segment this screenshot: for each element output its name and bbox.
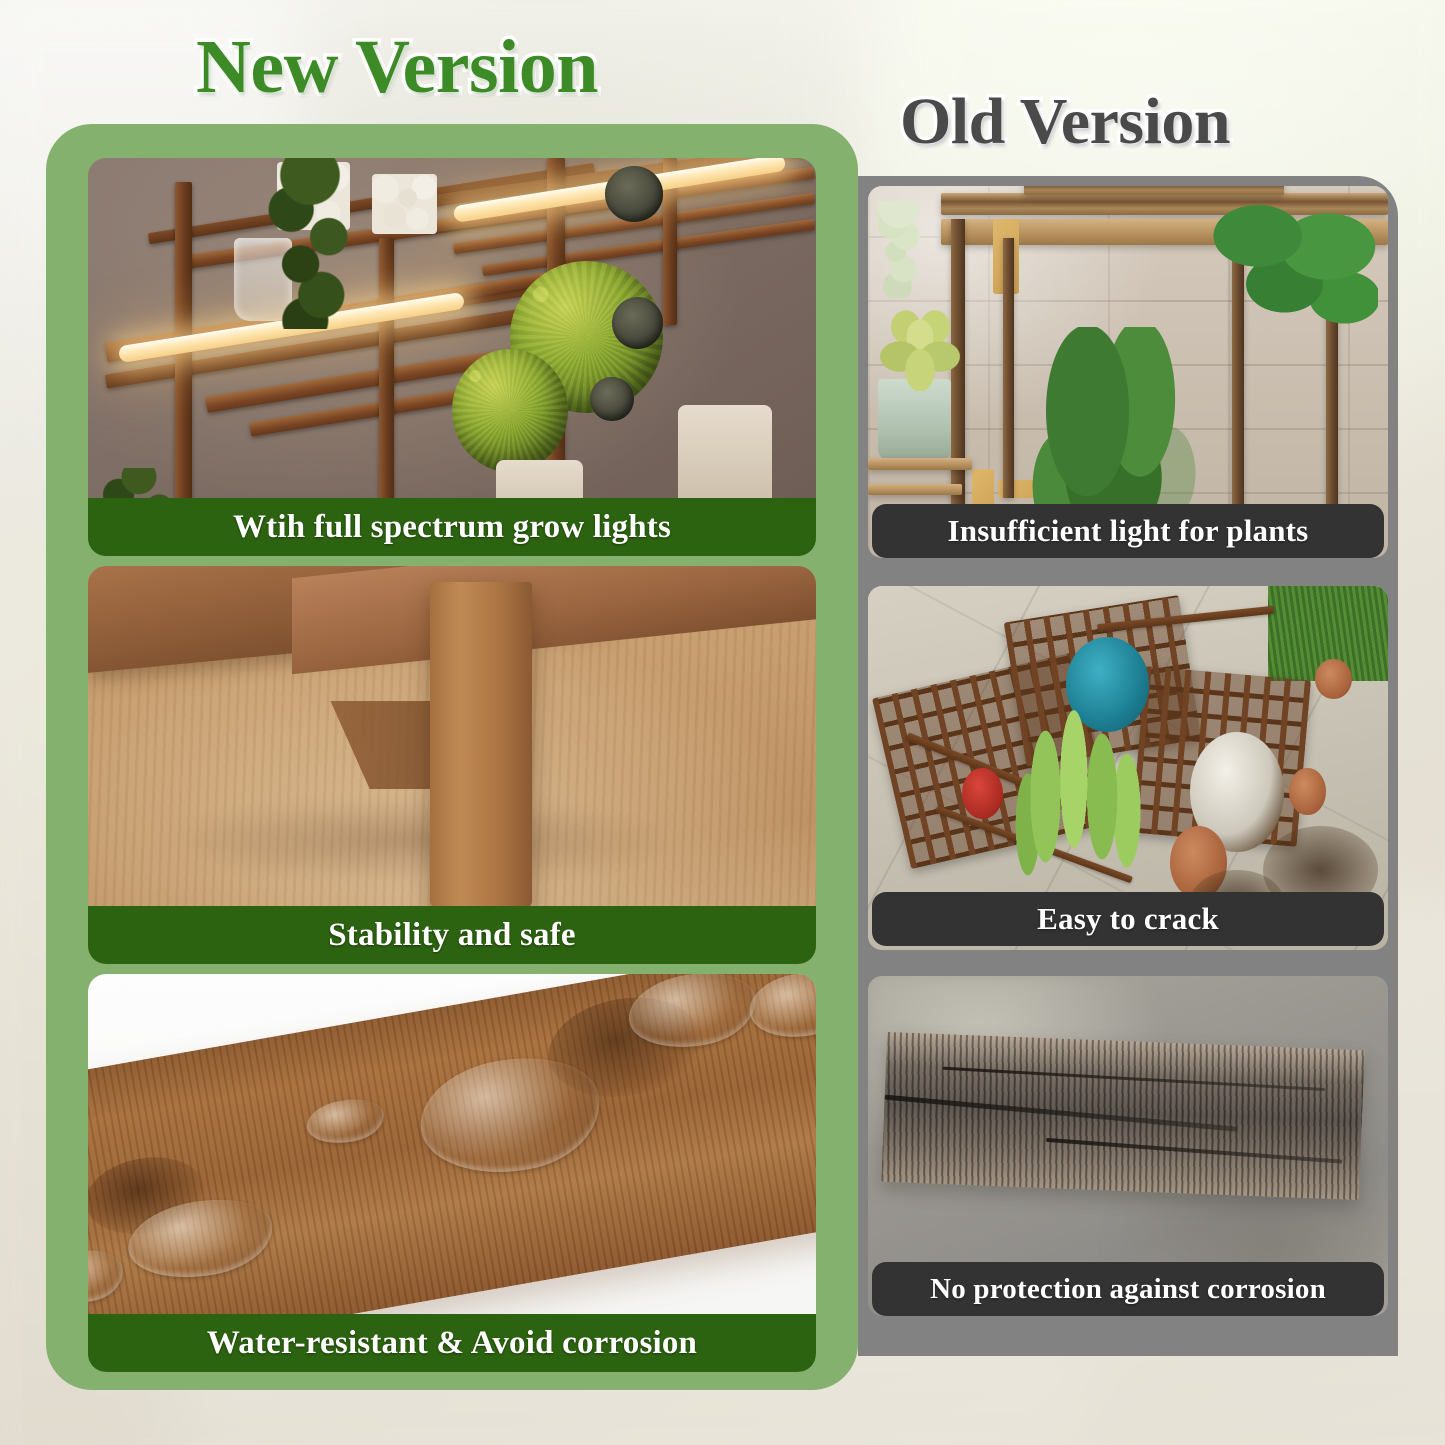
grow-lights-photo	[88, 158, 816, 556]
stability-leg-photo	[88, 566, 816, 964]
leg-shadow	[161, 797, 671, 885]
old-card-easy-to-crack: Easy to crack	[868, 586, 1388, 950]
rotted-wood-plank	[881, 1031, 1365, 1199]
beam	[1024, 186, 1284, 195]
old-card-insufficient-light-caption: Insufficient light for plants	[872, 504, 1384, 558]
broken-pot	[962, 768, 1004, 819]
topiary-ball-plant	[452, 349, 568, 472]
broken-pot	[1315, 659, 1351, 699]
new-card-grow-lights: Wtih full spectrum grow lights	[88, 158, 816, 556]
old-card-no-corrosion-protection-caption: No protection against corrosion	[872, 1262, 1384, 1316]
dried-thistle	[605, 166, 663, 222]
shelf	[868, 484, 962, 495]
post	[1003, 238, 1014, 498]
dried-thistle	[612, 297, 663, 349]
water-droplet	[88, 1244, 127, 1308]
hanging-vine-plant	[263, 158, 358, 329]
new-card-water-resistant-caption: Water-resistant & Avoid corrosion	[88, 1314, 816, 1372]
wood-crack	[943, 1066, 1325, 1090]
new-card-stability-caption: Stability and safe	[88, 906, 816, 964]
old-card-easy-to-crack-caption: Easy to crack	[872, 892, 1384, 946]
pebble-vase	[372, 174, 438, 234]
water-droplet	[304, 1093, 388, 1149]
old-card-no-corrosion-protection: No protection against corrosion	[868, 976, 1388, 1316]
new-card-water-resistant: Water-resistant & Avoid corrosion	[88, 974, 816, 1372]
dried-thistle	[590, 377, 634, 421]
new-card-grow-lights-caption: Wtih full spectrum grow lights	[88, 498, 816, 556]
insufficient-light-photo	[868, 186, 1388, 558]
old-version-title: Old Version	[900, 84, 1230, 160]
plant-pot	[878, 379, 951, 461]
new-card-stability: Stability and safe	[88, 566, 816, 964]
stand-leg	[430, 582, 532, 908]
broken-pot	[1289, 768, 1325, 815]
new-version-title: New Version	[196, 24, 598, 111]
wood-crack	[1045, 1137, 1341, 1163]
pothos-plant	[1211, 201, 1377, 335]
hanging-vine	[878, 201, 920, 298]
treated-wood-plank	[88, 974, 816, 1365]
shelf	[868, 458, 972, 470]
water-resistant-photo	[88, 974, 816, 1372]
spilled-spider-plant	[1003, 702, 1180, 877]
water-droplet	[744, 974, 816, 1045]
succulent-plant	[878, 309, 961, 391]
wood-crack	[884, 1094, 1237, 1131]
old-card-insufficient-light: Insufficient light for plants	[868, 186, 1388, 558]
